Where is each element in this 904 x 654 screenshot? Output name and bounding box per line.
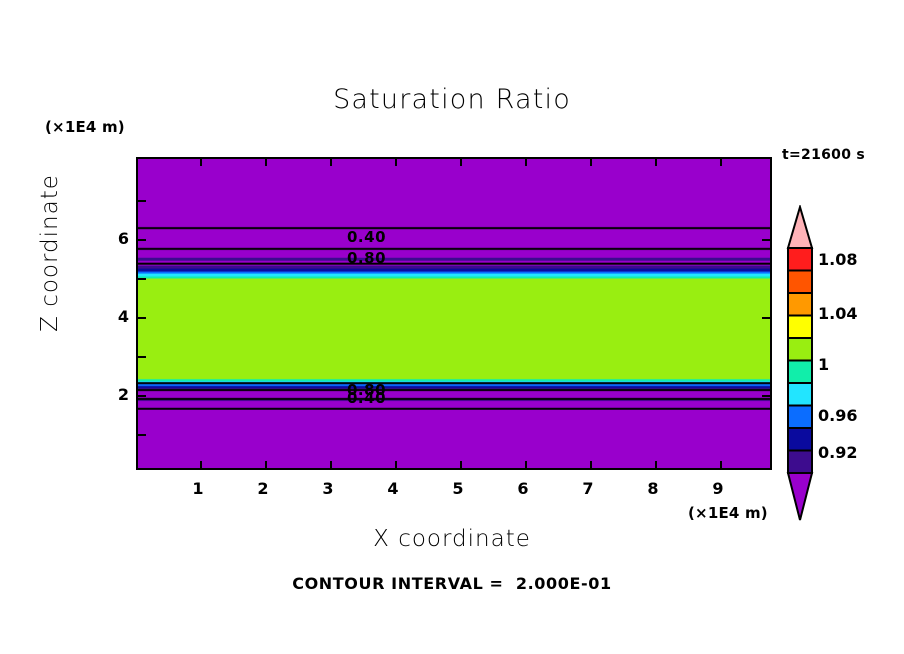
y-tick-mark [138, 200, 146, 202]
x-tick-mark-top [525, 159, 527, 166]
x-tick-mark [460, 461, 462, 468]
y-tick-mark [138, 434, 146, 436]
x-tick-mark-top [330, 159, 332, 166]
x-axis-unit-label: (×1E4 m) [688, 506, 768, 521]
x-tick-label: 6 [508, 479, 538, 498]
x-tick-mark [525, 461, 527, 468]
x-tick-label: 7 [573, 479, 603, 498]
colorbar-tick-label: 1 [818, 355, 829, 374]
x-tick-mark-top [395, 159, 397, 166]
y-tick-mark-right [762, 239, 770, 241]
y-tick-mark [138, 239, 146, 241]
x-tick-mark-top [720, 159, 722, 166]
x-tick-mark-top [265, 159, 267, 166]
colorbar-svg [786, 205, 814, 523]
contour-label: 0.80 [347, 249, 386, 267]
y-tick-mark-right [762, 317, 770, 319]
y-axis-unit-label: (×1E4 m) [45, 120, 125, 135]
saturation-field-canvas [138, 159, 770, 468]
colorbar-tick-label: 1.08 [818, 250, 857, 269]
x-tick-label: 2 [248, 479, 278, 498]
contour-interval-caption: CONTOUR INTERVAL = 2.000E-01 [0, 576, 904, 592]
x-tick-label: 3 [313, 479, 343, 498]
y-tick-mark [138, 356, 146, 358]
x-tick-mark [265, 461, 267, 468]
colorbar[interactable] [786, 205, 814, 523]
x-tick-mark [330, 461, 332, 468]
contour-plot-area[interactable]: 0.40 0.80 0.80 0.40 [136, 157, 772, 470]
y-tick-label: 6 [103, 229, 129, 248]
colorbar-tick-label: 1.04 [818, 304, 857, 323]
x-tick-mark [395, 461, 397, 468]
x-tick-label: 8 [638, 479, 668, 498]
y-tick-label: 4 [103, 307, 129, 326]
x-tick-mark [590, 461, 592, 468]
x-tick-label: 9 [703, 479, 733, 498]
y-tick-mark [138, 317, 146, 319]
x-tick-mark-top [200, 159, 202, 166]
page-title: Saturation Ratio [0, 86, 904, 113]
x-tick-mark [655, 461, 657, 468]
x-tick-label: 4 [378, 479, 408, 498]
x-axis-title: X coordinate [0, 528, 904, 551]
x-tick-mark [720, 461, 722, 468]
x-tick-mark-top [590, 159, 592, 166]
y-tick-mark [138, 395, 146, 397]
contour-label: 0.40 [347, 389, 386, 407]
contour-label: 0.40 [347, 228, 386, 246]
x-tick-label: 5 [443, 479, 473, 498]
colorbar-tick-label: 0.96 [818, 406, 857, 425]
y-tick-label: 2 [103, 385, 129, 404]
y-tick-mark-right [762, 395, 770, 397]
x-tick-label: 1 [183, 479, 213, 498]
y-tick-mark [138, 278, 146, 280]
colorbar-tick-label: 0.92 [818, 443, 857, 462]
y-axis-title: Z coordinate [37, 163, 63, 343]
timestamp-label: t=21600 s [782, 148, 865, 162]
x-tick-mark-top [460, 159, 462, 166]
x-tick-mark [200, 461, 202, 468]
x-tick-mark-top [655, 159, 657, 166]
